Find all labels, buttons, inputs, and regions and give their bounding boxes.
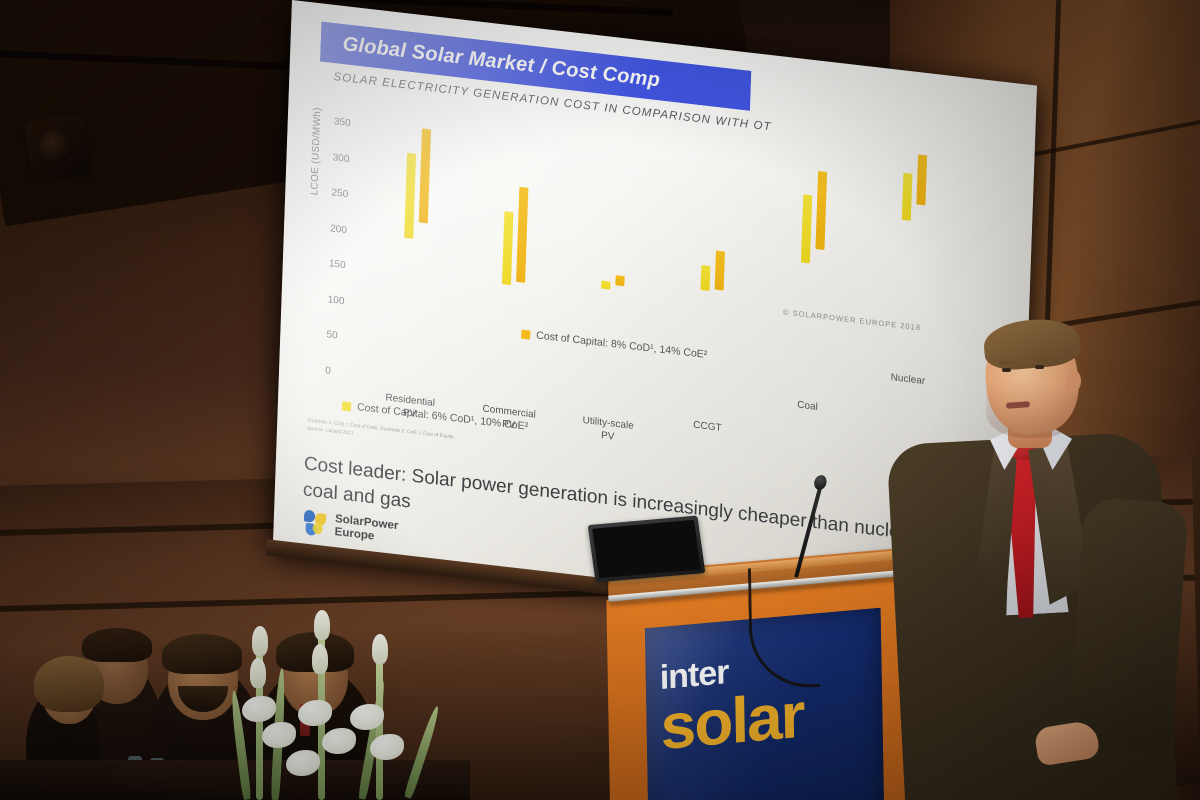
flower-bloom (370, 734, 404, 760)
flower-bud (252, 626, 268, 656)
x-axis-label: CCGT (665, 416, 749, 438)
chart-bar (714, 251, 724, 290)
laptop-screen (592, 520, 701, 578)
solarpower-europe-logo-icon (303, 509, 328, 538)
y-axis-tick-label: 100 (328, 294, 345, 307)
y-axis-tick-label: 300 (332, 152, 349, 165)
presenter-ear (1066, 370, 1081, 392)
chart-bar (615, 275, 624, 286)
presenter-eye-left (1002, 368, 1011, 372)
presenter-eye-right (1035, 365, 1044, 369)
chart-bar (815, 171, 827, 250)
flower-bloom (242, 696, 276, 722)
chart-bar (502, 211, 514, 285)
y-axis-title: LCOE (USD/MWh) (309, 25, 326, 196)
flower-bud (314, 610, 330, 640)
x-axis-label: Utility-scale PV (565, 413, 650, 448)
y-axis-tick-label: 50 (326, 330, 338, 342)
ceiling-loudspeaker (25, 115, 92, 180)
speaker-podium: inter solar (598, 557, 932, 800)
chart-bar (700, 265, 710, 291)
solarpower-europe-logo: SolarPower Europe (303, 509, 398, 546)
flower-bud (250, 658, 266, 688)
brand-solar-text: solar (660, 685, 804, 758)
chart-bar (404, 152, 416, 238)
chart-bar (901, 172, 912, 221)
chart-bar (516, 187, 528, 283)
presenter (890, 330, 1190, 800)
presenter-face-shading (986, 382, 1078, 438)
flower-arrangement (190, 600, 470, 800)
y-axis-tick-label: 0 (325, 365, 331, 377)
flower-bloom (298, 700, 332, 726)
loudspeaker-cone (36, 128, 74, 166)
logo-wordmark: SolarPower Europe (334, 513, 398, 546)
flower-bud (312, 644, 328, 674)
chart-bar (801, 194, 812, 263)
legend-swatch-light (342, 401, 351, 411)
chart-bar (418, 128, 430, 223)
y-axis-tick-label: 200 (330, 223, 347, 236)
conference-scene: Global Solar Market / Cost Comp SOLAR EL… (0, 0, 1200, 800)
y-axis-tick-label: 250 (331, 188, 348, 201)
flower-leaf (403, 705, 441, 799)
presenter-arm (1067, 497, 1188, 754)
flower-bloom (322, 728, 356, 754)
chart-bar (601, 280, 610, 290)
flower-stem (376, 660, 383, 800)
chart-bar (916, 154, 927, 205)
flower-bloom (286, 750, 320, 776)
flower-bloom (262, 722, 296, 748)
legend-swatch-dark (521, 329, 530, 339)
flower-bud (372, 634, 388, 664)
panelist-hair (82, 628, 152, 662)
panelist-hair (34, 656, 104, 712)
podium-laptop[interactable] (588, 516, 706, 583)
y-axis-tick-label: 350 (334, 117, 351, 130)
chart-plot-area (365, 106, 968, 444)
y-axis-tick-label: 150 (329, 259, 346, 272)
